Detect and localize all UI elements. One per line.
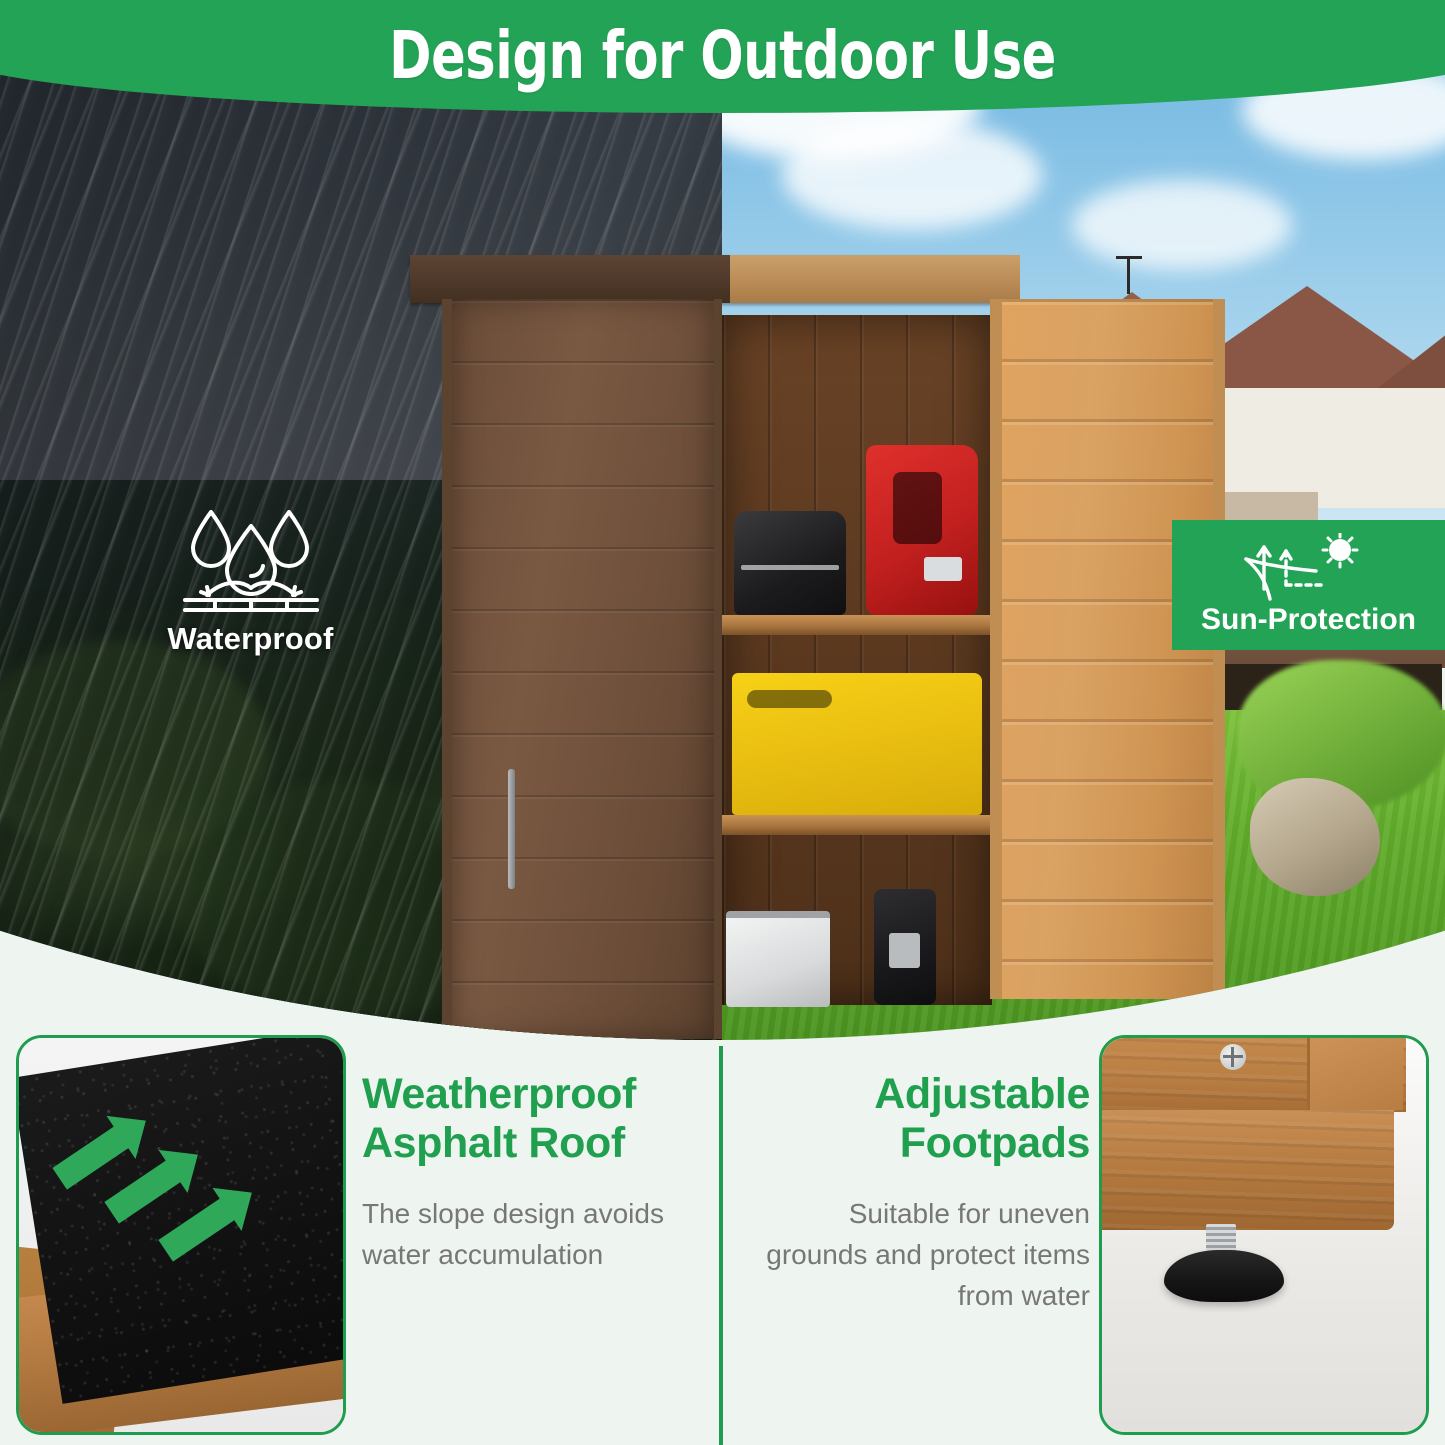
item-red-staple-gun <box>866 445 978 615</box>
badge-waterproof: Waterproof <box>118 500 383 657</box>
feature-text-asphalt-roof: Weatherproof Asphalt Roof The slope desi… <box>362 1070 692 1276</box>
screw-icon <box>1220 1044 1246 1070</box>
feature-divider <box>719 1046 723 1445</box>
feature-photo-footpad <box>1099 1035 1429 1435</box>
feature-body-asphalt-roof: The slope design avoids water accumulati… <box>362 1194 692 1276</box>
item-yellow-toolbox <box>732 673 982 815</box>
badge-sun-protection: Sun-Protection <box>1172 520 1445 650</box>
shed-interior <box>722 315 992 1005</box>
product-feature-infographic: Waterproof <box>0 0 1445 1445</box>
shed-door-left-closed[interactable] <box>442 299 722 1039</box>
hero-image-clip: Waterproof <box>0 0 1445 1040</box>
feature-text-footpads: Adjustable Footpads Suitable for uneven … <box>760 1070 1090 1317</box>
feature-title-line2: Asphalt Roof <box>362 1119 692 1168</box>
item-black-tool-case <box>734 511 846 615</box>
cloud-2 <box>782 120 1042 230</box>
feature-title-line1-right: Adjustable <box>760 1070 1090 1119</box>
asphalt-grit-texture <box>16 1035 346 1404</box>
feature-title-asphalt-roof: Weatherproof Asphalt Roof <box>362 1070 692 1168</box>
interior-back-panel <box>722 315 992 1005</box>
item-black-tool <box>874 889 936 1005</box>
roof-photo-backdrop <box>19 1038 343 1432</box>
page-title: Design for Outdoor Use <box>101 0 1344 110</box>
hero-section: Waterproof <box>0 0 1445 1040</box>
feature-photo-asphalt-roof <box>16 1035 346 1435</box>
asphalt-roof-surface <box>16 1035 346 1404</box>
feature-title-line1: Weatherproof <box>362 1070 692 1119</box>
badge-waterproof-label: Waterproof <box>118 621 383 657</box>
feature-title-line2-right: Footpads <box>760 1119 1090 1168</box>
shed-roof-right <box>730 255 1020 303</box>
feature-body-footpads: Suitable for uneven grounds and protect … <box>760 1194 1090 1317</box>
water-droplets-icon <box>118 500 383 615</box>
shelf-top <box>722 615 992 635</box>
shelf-middle <box>722 815 992 835</box>
storage-shed <box>400 255 1230 1040</box>
badge-sun-protection-label: Sun-Protection <box>1201 603 1416 637</box>
shed-base-beam <box>1099 1110 1394 1230</box>
item-silver-case <box>726 911 830 1007</box>
adjustable-footpad <box>1164 1250 1284 1302</box>
door-handle-left[interactable] <box>508 769 515 889</box>
sun-deflection-icon <box>1244 533 1374 601</box>
feature-title-footpads: Adjustable Footpads <box>760 1070 1090 1168</box>
wood-grain-base <box>1099 1110 1394 1230</box>
shed-corner-post <box>1307 1035 1403 1110</box>
footpad-photo-backdrop <box>1102 1038 1426 1432</box>
features-section: Weatherproof Asphalt Roof The slope desi… <box>0 1040 1445 1445</box>
